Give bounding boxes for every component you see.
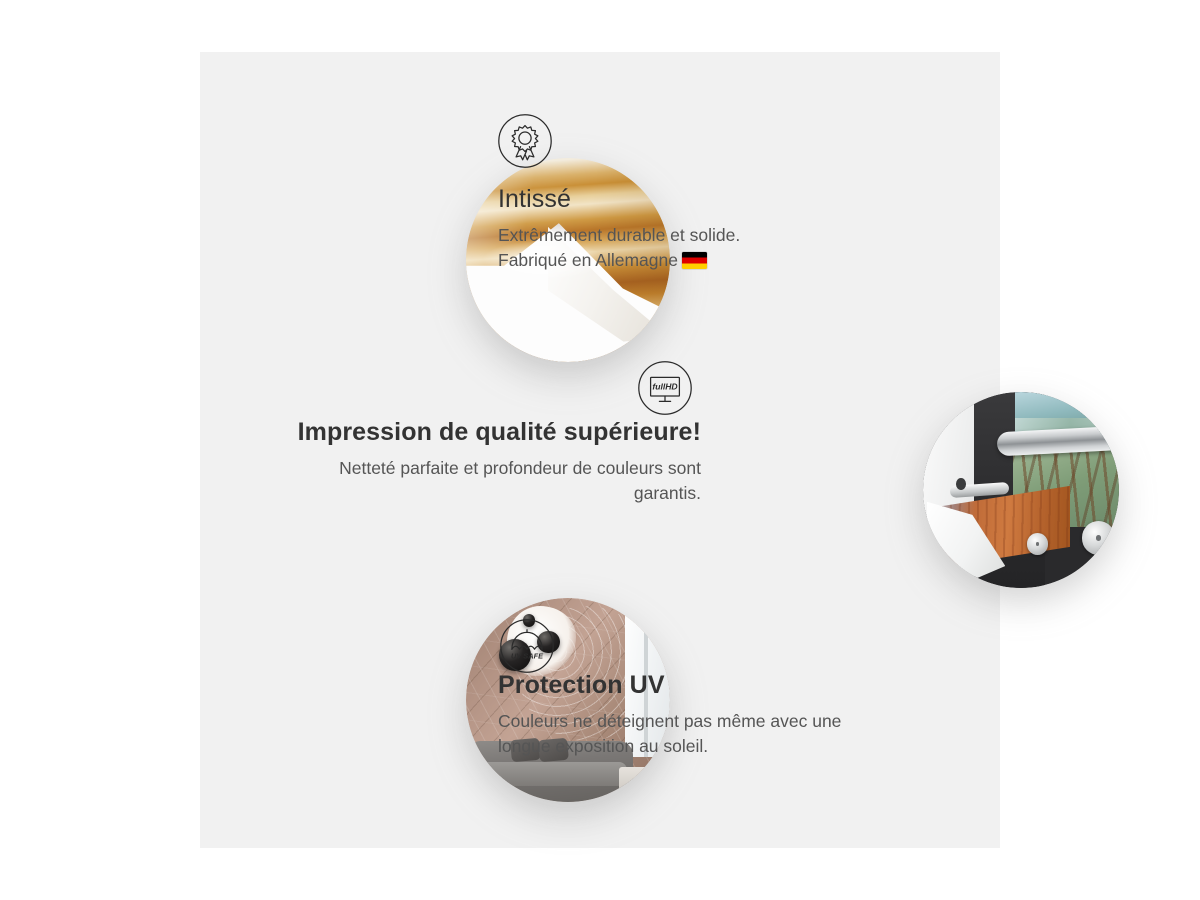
uv-safe-umbrella-icon: UV SAFE	[499, 618, 555, 674]
svg-text:fullHD: fullHD	[652, 382, 677, 392]
product-feature-infographic: Intissé Extrêmement durable et solide. F…	[0, 0, 1200, 900]
feature-title-impression: Impression de qualité supérieure!	[285, 419, 701, 447]
printing-press-photo-inner	[923, 392, 1119, 588]
award-rosette-icon	[497, 113, 553, 169]
feature-text-impression: Impression de qualité supérieure! Nettet…	[285, 419, 701, 507]
fullhd-monitor-icon: fullHD	[637, 360, 693, 416]
feature-text-intisse: Intissé Extrêmement durable et solide. F…	[498, 186, 928, 274]
content-panel: Intissé Extrêmement durable et solide. F…	[200, 52, 1000, 848]
feature-description-line-2: garantis.	[634, 483, 701, 503]
german-flag-icon	[682, 252, 707, 269]
printing-press-photo	[923, 392, 1119, 588]
feature-description-line-1: Extrêmement durable et solide.	[498, 225, 740, 245]
feature-title-protection-uv: Protection UV	[498, 672, 928, 700]
svg-text:UV SAFE: UV SAFE	[511, 651, 544, 660]
feature-description-line-1: Netteté parfaite et profondeur de couleu…	[339, 458, 701, 478]
feature-description-protection-uv: Couleurs ne déteignent pas même avec une…	[498, 709, 928, 760]
room-side-table	[619, 767, 654, 794]
press-wheel-right	[1082, 521, 1115, 554]
feature-description-line-1: Couleurs ne déteignent pas même avec une	[498, 711, 841, 731]
feature-description-line-2: Fabriqué en Allemagne	[498, 250, 678, 270]
feature-title-intisse: Intissé	[498, 186, 928, 214]
feature-description-line-2: longue exposition au soleil.	[498, 736, 708, 756]
feature-text-protection-uv: Protection UV Couleurs ne déteignent pas…	[498, 672, 928, 760]
press-wheel-center	[1027, 533, 1049, 555]
feature-description-intisse: Extrêmement durable et solide. Fabriqué …	[498, 223, 928, 274]
feature-description-impression: Netteté parfaite et profondeur de couleu…	[285, 456, 701, 507]
